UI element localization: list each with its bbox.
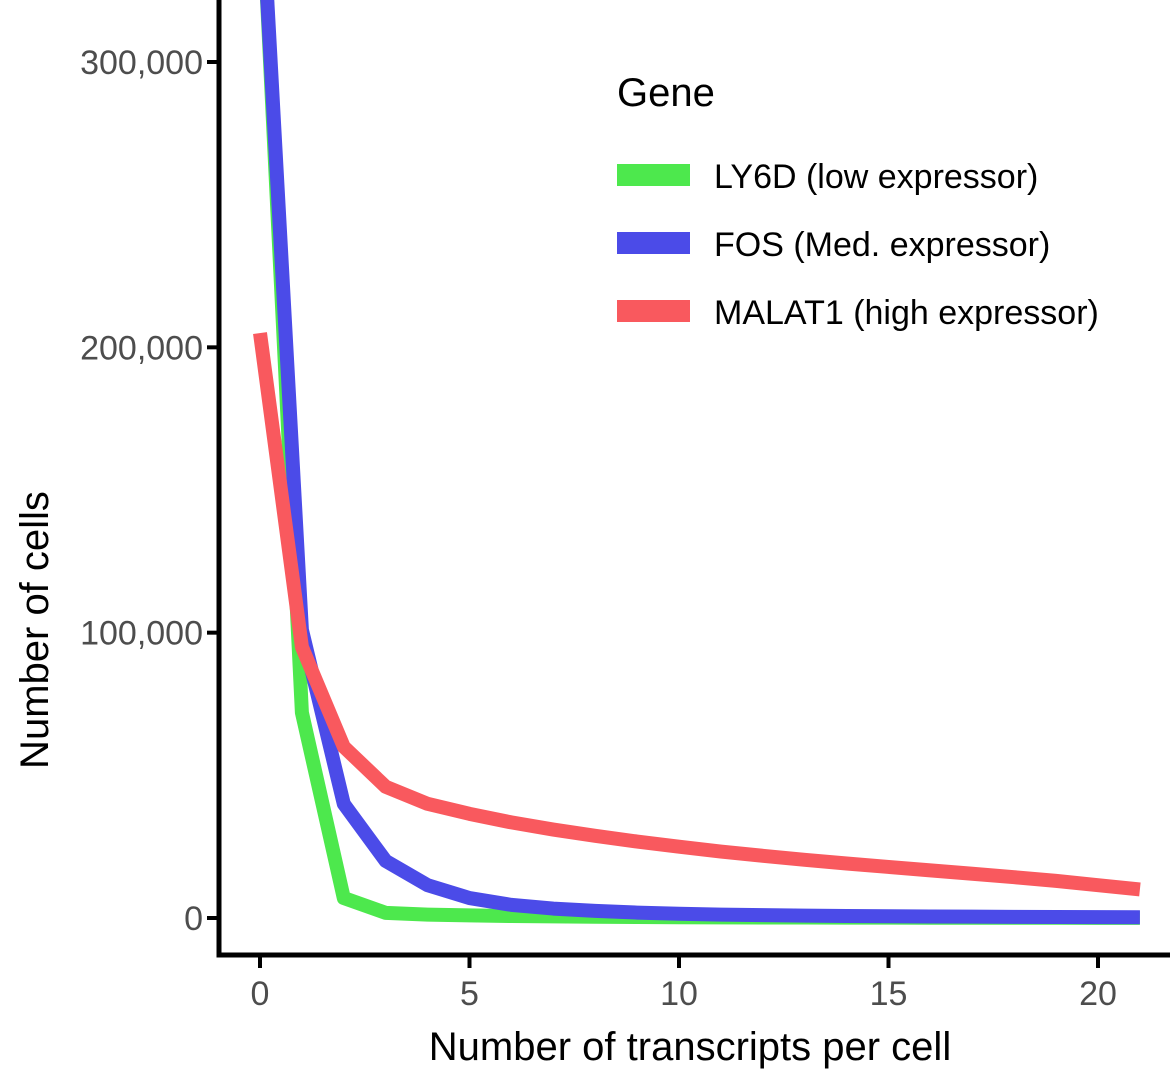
legend-swatch <box>617 164 690 186</box>
legend-item-label: MALAT1 (high expressor) <box>714 294 1099 332</box>
x-tick-label: 15 <box>870 975 908 1013</box>
line-chart-canvas: 0100,000200,000300,000 05101520 Number o… <box>0 0 1170 1088</box>
y-tick-label: 200,000 <box>80 329 203 367</box>
y-tick-label: 300,000 <box>80 44 203 82</box>
legend-item-label: LY6D (low expressor) <box>714 158 1038 196</box>
legend-item-label: FOS (Med. expressor) <box>714 226 1050 264</box>
y-tick-label: 100,000 <box>80 615 203 653</box>
y-axis-title: Number of cells <box>13 491 57 769</box>
x-axis-title: Number of transcripts per cell <box>429 1025 951 1069</box>
legend-swatch <box>617 300 690 322</box>
x-tick-label: 0 <box>251 975 270 1013</box>
x-tick-label: 10 <box>660 975 698 1013</box>
x-tick-label: 5 <box>460 975 479 1013</box>
legend-title: Gene <box>617 71 715 115</box>
chart-figure: 0100,000200,000300,000 05101520 Number o… <box>0 0 1170 1088</box>
x-tick-label: 20 <box>1079 975 1117 1013</box>
legend-swatch <box>617 232 690 254</box>
legend-items: LY6D (low expressor)FOS (Med. expressor)… <box>617 158 1099 332</box>
y-tick-label: 0 <box>184 900 203 938</box>
